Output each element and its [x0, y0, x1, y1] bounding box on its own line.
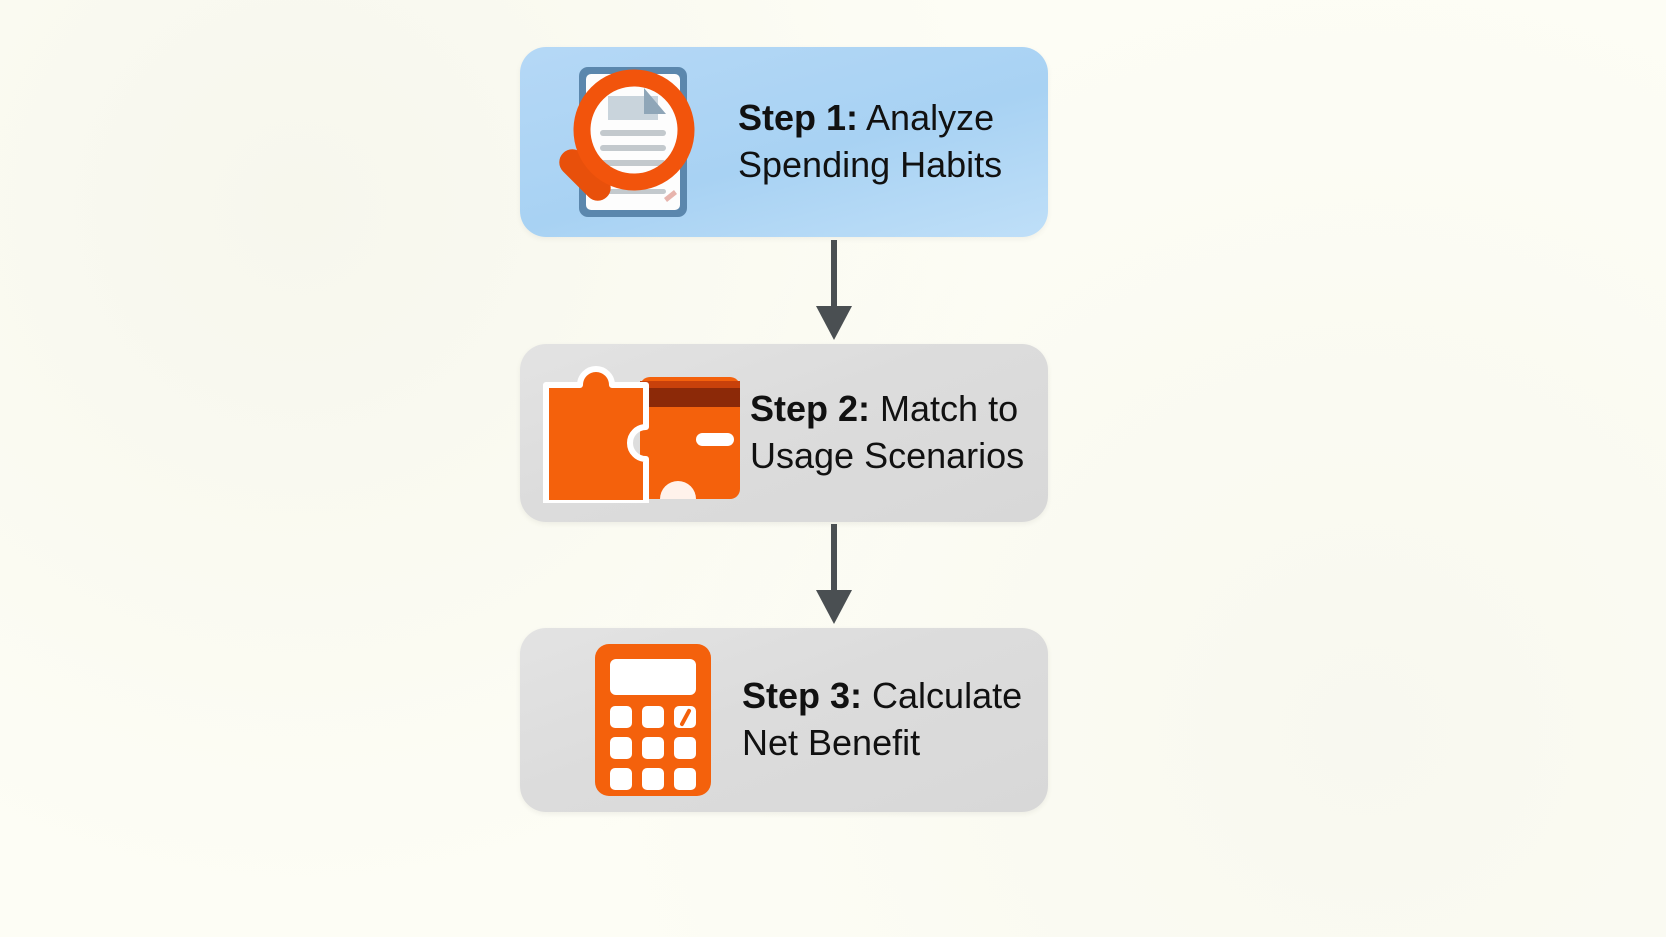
step-1-label: Step 1: Analyze Spending Habits — [738, 95, 1048, 189]
arrow-step1-to-step2 — [810, 240, 858, 340]
step-3-card[interactable]: Step 3: Calculate Net Benefit — [520, 628, 1048, 812]
calculator-icon — [593, 642, 713, 798]
step-2-card[interactable]: Step 2: Match to Usage Scenarios — [520, 344, 1048, 522]
step-1-card[interactable]: Step 1: Analyze Spending Habits — [520, 47, 1048, 237]
down-arrow-icon — [810, 240, 858, 340]
process-flow-diagram: Step 1: Analyze Spending Habits — [0, 0, 1666, 937]
arrow-step2-to-step3 — [810, 524, 858, 624]
puzzle-piece-credit-card-icon — [542, 363, 742, 503]
step-1-label-line-1: Step 1: Analyze — [738, 95, 1048, 142]
step-2-label: Step 2: Match to Usage Scenarios — [750, 386, 1048, 480]
step-3-label-strong: Step 3: — [742, 675, 862, 716]
magnifying-glass-document-icon — [548, 58, 726, 226]
step-2-label-strong: Step 2: — [750, 388, 870, 429]
step-3-label-rest: Calculate — [862, 675, 1022, 716]
step-1-label-rest: Analyze — [858, 97, 994, 138]
step-3-label-line-1: Step 3: Calculate — [742, 673, 1048, 720]
step-1-icon-slot — [542, 58, 732, 226]
step-1-label-strong: Step 1: — [738, 97, 858, 138]
step-2-icon-slot — [538, 363, 746, 503]
step-3-icon-slot — [568, 642, 738, 798]
step-2-label-line-1: Step 2: Match to — [750, 386, 1048, 433]
step-2-label-line-2: Usage Scenarios — [750, 433, 1048, 480]
step-2-label-rest: Match to — [870, 388, 1018, 429]
step-3-label: Step 3: Calculate Net Benefit — [742, 673, 1048, 767]
step-1-label-line-2: Spending Habits — [738, 142, 1048, 189]
step-3-label-line-2: Net Benefit — [742, 720, 1048, 767]
down-arrow-icon — [810, 524, 858, 624]
